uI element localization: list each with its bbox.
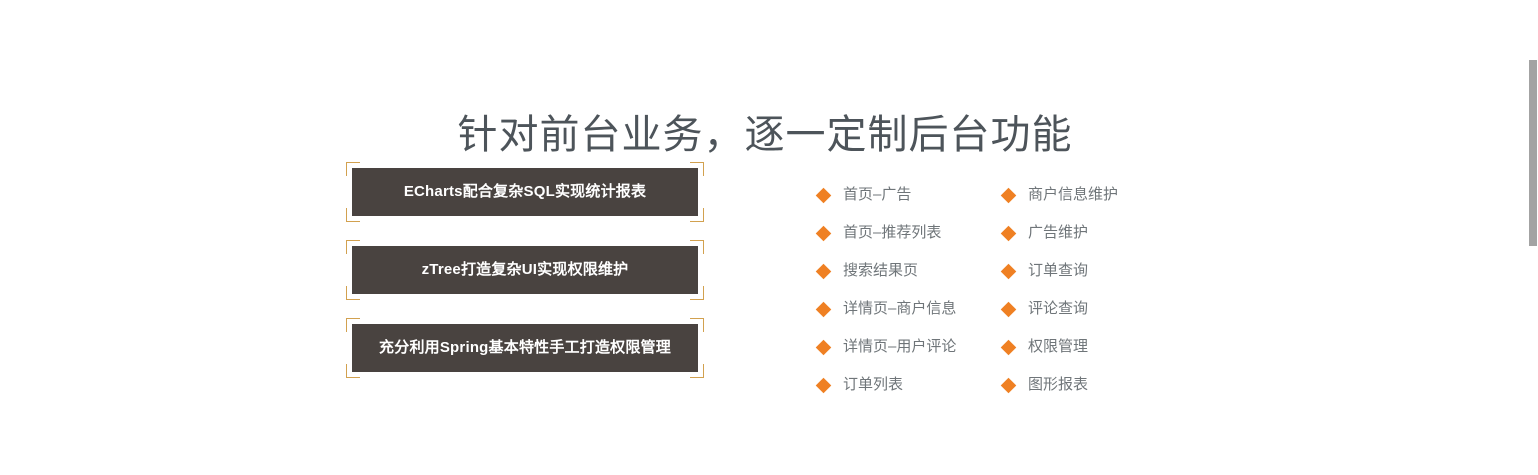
list-item[interactable]: 搜索结果页 bbox=[818, 252, 1003, 290]
list-item[interactable]: 图形报表 bbox=[1003, 366, 1188, 404]
diamond-bullet-icon bbox=[1001, 301, 1017, 317]
list-item-label: 商户信息维护 bbox=[1028, 185, 1118, 205]
list-item[interactable]: 权限管理 bbox=[1003, 328, 1188, 366]
feature-card-list: ECharts配合复杂SQL实现统计报表 zTree打造复杂UI实现权限维护 充… bbox=[352, 168, 698, 372]
list-item-label: 首页–广告 bbox=[843, 185, 911, 205]
list-item-label: 图形报表 bbox=[1028, 375, 1088, 395]
list-item-label: 详情页–用户评论 bbox=[843, 337, 956, 357]
list-item[interactable]: 详情页–用户评论 bbox=[818, 328, 1003, 366]
list-item[interactable]: 首页–推荐列表 bbox=[818, 214, 1003, 252]
feature-column-right: 商户信息维护 广告维护 订单查询 评论查询 权限管理 bbox=[1003, 176, 1188, 404]
diamond-bullet-icon bbox=[816, 301, 832, 317]
feature-card-label: ECharts配合复杂SQL实现统计报表 bbox=[404, 182, 646, 202]
list-item[interactable]: 商户信息维护 bbox=[1003, 176, 1188, 214]
page-root: 针对前台业务，逐一定制后台功能 ECharts配合复杂SQL实现统计报表 zTr… bbox=[0, 0, 1538, 475]
list-item-label: 首页–推荐列表 bbox=[843, 223, 941, 243]
diamond-bullet-icon bbox=[1001, 339, 1017, 355]
page-title: 针对前台业务，逐一定制后台功能 bbox=[0, 107, 1530, 163]
feature-list: 首页–广告 首页–推荐列表 搜索结果页 详情页–商户信息 详情页–用户评论 bbox=[818, 176, 1188, 404]
feature-card-label: 充分利用Spring基本特性手工打造权限管理 bbox=[379, 338, 671, 358]
list-item-label: 详情页–商户信息 bbox=[843, 299, 956, 319]
diamond-bullet-icon bbox=[1001, 187, 1017, 203]
feature-column-left: 首页–广告 首页–推荐列表 搜索结果页 详情页–商户信息 详情页–用户评论 bbox=[818, 176, 1003, 404]
list-item-label: 评论查询 bbox=[1028, 299, 1088, 319]
list-item-label: 搜索结果页 bbox=[843, 261, 918, 281]
list-item-label: 订单查询 bbox=[1028, 261, 1088, 281]
list-item[interactable]: 订单列表 bbox=[818, 366, 1003, 404]
list-item[interactable]: 广告维护 bbox=[1003, 214, 1188, 252]
list-item[interactable]: 详情页–商户信息 bbox=[818, 290, 1003, 328]
feature-card[interactable]: 充分利用Spring基本特性手工打造权限管理 bbox=[352, 324, 698, 372]
diamond-bullet-icon bbox=[816, 263, 832, 279]
page-scrollbar[interactable] bbox=[1528, 0, 1538, 475]
diamond-bullet-icon bbox=[1001, 263, 1017, 279]
diamond-bullet-icon bbox=[1001, 377, 1017, 393]
list-item[interactable]: 首页–广告 bbox=[818, 176, 1003, 214]
list-item[interactable]: 订单查询 bbox=[1003, 252, 1188, 290]
diamond-bullet-icon bbox=[816, 225, 832, 241]
diamond-bullet-icon bbox=[1001, 225, 1017, 241]
diamond-bullet-icon bbox=[816, 339, 832, 355]
list-item-label: 广告维护 bbox=[1028, 223, 1088, 243]
list-item[interactable]: 评论查询 bbox=[1003, 290, 1188, 328]
feature-card[interactable]: ECharts配合复杂SQL实现统计报表 bbox=[352, 168, 698, 216]
feature-card-label: zTree打造复杂UI实现权限维护 bbox=[422, 260, 629, 280]
diamond-bullet-icon bbox=[816, 377, 832, 393]
list-item-label: 权限管理 bbox=[1028, 337, 1088, 357]
list-item-label: 订单列表 bbox=[843, 375, 903, 395]
scrollbar-thumb[interactable] bbox=[1529, 60, 1537, 246]
feature-card-body[interactable]: ECharts配合复杂SQL实现统计报表 bbox=[352, 168, 698, 216]
feature-card-body[interactable]: 充分利用Spring基本特性手工打造权限管理 bbox=[352, 324, 698, 372]
content-area: ECharts配合复杂SQL实现统计报表 zTree打造复杂UI实现权限维护 充… bbox=[0, 168, 1530, 418]
diamond-bullet-icon bbox=[816, 187, 832, 203]
feature-card[interactable]: zTree打造复杂UI实现权限维护 bbox=[352, 246, 698, 294]
feature-card-body[interactable]: zTree打造复杂UI实现权限维护 bbox=[352, 246, 698, 294]
